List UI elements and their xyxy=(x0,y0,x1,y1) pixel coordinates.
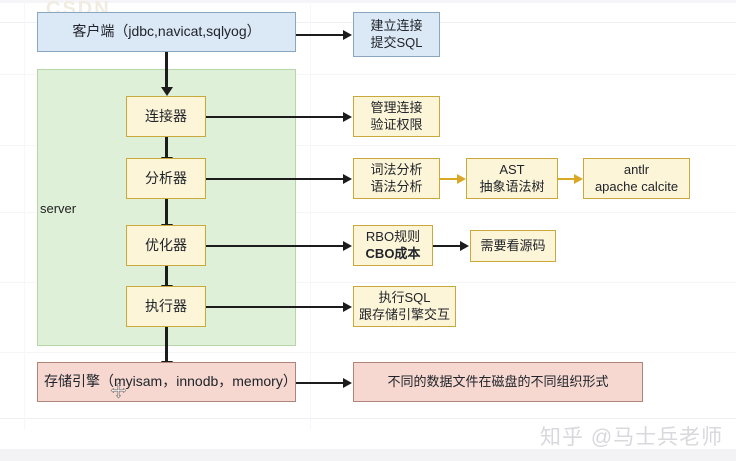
node-analyzer-note-line-1: 词法分析 xyxy=(370,162,422,178)
node-antlr[interactable]: antlr apache calcite xyxy=(583,158,690,199)
node-analyzer-note-line-2: 语法分析 xyxy=(370,179,422,195)
node-antlr-line-1: antlr xyxy=(624,162,649,178)
move-cursor-icon xyxy=(110,382,127,399)
node-antlr-line-2: apache calcite xyxy=(595,179,678,195)
node-analyzer-line-1: 分析器 xyxy=(145,170,187,188)
node-optimizer-line-1: 优化器 xyxy=(145,237,187,255)
node-optimizer[interactable]: 优化器 xyxy=(126,225,206,266)
node-client-note[interactable]: 建立连接 提交SQL xyxy=(353,12,440,57)
node-ast-line-1: AST xyxy=(499,162,524,178)
node-storage-engine-line-1: 存储引擎（myisam，innodb，memory） xyxy=(44,373,297,391)
node-ast[interactable]: AST 抽象语法树 xyxy=(466,158,558,199)
node-source-note[interactable]: 需要看源码 xyxy=(470,230,556,262)
node-source-note-line-1: 需要看源码 xyxy=(480,238,545,254)
node-client-note-line-1: 建立连接 xyxy=(370,18,422,34)
node-optimizer-note-line-2: CBO成本 xyxy=(366,246,421,262)
node-executor-line-1: 执行器 xyxy=(145,298,187,316)
node-ast-line-2: 抽象语法树 xyxy=(479,179,544,195)
watermark-bottom-right: 知乎 @马士兵老师 xyxy=(540,421,723,451)
node-connector-note-line-1: 管理连接 xyxy=(370,100,422,116)
node-optimizer-note-line-1: RBO规则 xyxy=(366,229,420,245)
node-optimizer-note[interactable]: RBO规则 CBO成本 xyxy=(353,225,433,266)
bg-rule-vertical xyxy=(310,0,311,430)
bg-rule xyxy=(0,418,736,419)
node-executor-note-line-1: 执行SQL xyxy=(378,290,430,306)
node-storage-engine[interactable]: 存储引擎（myisam，innodb，memory） xyxy=(37,362,296,402)
node-executor[interactable]: 执行器 xyxy=(126,286,206,327)
bg-rule-vertical xyxy=(24,0,25,430)
node-client-line-1: 客户端（jdbc,navicat,sqlyog） xyxy=(72,23,260,41)
node-analyzer-note[interactable]: 词法分析 语法分析 xyxy=(353,158,440,199)
node-connector[interactable]: 连接器 xyxy=(126,96,206,137)
server-zone-label: server xyxy=(40,201,76,216)
node-connector-note[interactable]: 管理连接 验证权限 xyxy=(353,96,440,137)
node-client[interactable]: 客户端（jdbc,navicat,sqlyog） xyxy=(37,12,296,52)
node-connector-note-line-2: 验证权限 xyxy=(370,117,422,133)
bg-rule xyxy=(0,352,736,353)
node-client-note-line-2: 提交SQL xyxy=(370,35,422,51)
node-connector-line-1: 连接器 xyxy=(145,108,187,126)
node-storage-note[interactable]: 不同的数据文件在磁盘的不同组织形式 xyxy=(353,362,643,402)
node-analyzer[interactable]: 分析器 xyxy=(126,158,206,199)
node-executor-note[interactable]: 执行SQL 跟存储引擎交互 xyxy=(353,286,456,327)
node-executor-note-line-2: 跟存储引擎交互 xyxy=(359,307,450,323)
node-storage-note-line-1: 不同的数据文件在磁盘的不同组织形式 xyxy=(387,374,608,390)
diagram-canvas: CSDN server 客户端（jdbc,navicat,sqlyog） 建立连… xyxy=(0,0,736,461)
